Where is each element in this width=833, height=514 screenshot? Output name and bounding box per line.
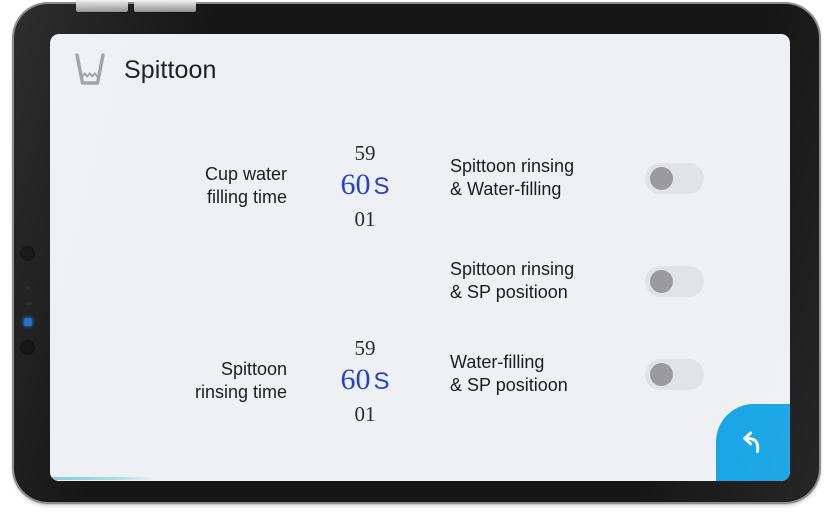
spinner-row-spittoon-rinsing-time: Spittoon rinsing time 59 60S 01 xyxy=(145,327,445,435)
toggle-label-line1: Spittoon rinsing xyxy=(450,155,625,178)
spinner-next-value[interactable]: 01 xyxy=(305,401,425,427)
toggle-knob xyxy=(650,363,673,386)
number-spinner[interactable]: 59 60S 01 xyxy=(305,140,425,232)
back-button[interactable] xyxy=(716,404,790,481)
tablet-device-frame: Spittoon Cup water filling time 59 60S 0… xyxy=(14,4,819,502)
spinner-selected-value[interactable]: 60S xyxy=(305,361,425,401)
spinner-label-line2: filling time xyxy=(145,186,287,209)
spinner-unit: S xyxy=(373,368,389,395)
page-title: Spittoon xyxy=(124,56,217,85)
spinner-label-line1: Cup water xyxy=(145,163,287,186)
edge-slot-icon xyxy=(25,302,32,305)
toggle-label-line2: & SP positioon xyxy=(450,374,625,397)
number-spinner[interactable]: 59 60S 01 xyxy=(305,335,425,427)
toggle-label-line1: Spittoon rinsing xyxy=(450,258,625,281)
settings-main-area: Cup water filling time 59 60S 01 Spittoo… xyxy=(50,106,790,481)
hardware-key-right[interactable] xyxy=(134,0,196,12)
spinner-label-line1: Spittoon xyxy=(145,358,287,381)
spinner-previous-value[interactable]: 59 xyxy=(305,140,425,166)
toggle-label: Spittoon rinsing & SP positioon xyxy=(450,258,625,304)
tablet-screen: Spittoon Cup water filling time 59 60S 0… xyxy=(50,34,790,481)
spinner-selected-number: 60 xyxy=(340,363,370,396)
page-header: Spittoon xyxy=(50,34,790,106)
microphone-hole-icon xyxy=(26,286,30,290)
toggle-row-spittoon-rinsing-water-filling: Spittoon rinsing & Water-filling xyxy=(450,148,760,208)
spinner-label: Spittoon rinsing time xyxy=(145,358,305,404)
toggle-label-line2: & SP positioon xyxy=(450,281,625,304)
speaker-hole-top-icon xyxy=(20,246,35,261)
toggle-switch-spittoon-rinsing-water-filling[interactable] xyxy=(645,163,704,194)
toggle-switch-water-filling-sp-position[interactable] xyxy=(645,359,704,390)
toggle-label: Spittoon rinsing & Water-filling xyxy=(450,155,625,201)
spinner-label-line2: rinsing time xyxy=(145,381,287,404)
spinner-next-value[interactable]: 01 xyxy=(305,206,425,232)
spinner-previous-value[interactable]: 59 xyxy=(305,335,425,361)
toggle-label-line1: Water-filling xyxy=(450,351,625,374)
toggle-label-line2: & Water-filling xyxy=(450,178,625,201)
back-arrow-icon xyxy=(736,426,770,460)
toggle-row-spittoon-rinsing-sp-position: Spittoon rinsing & SP positioon xyxy=(450,251,760,311)
toggle-row-water-filling-sp-position: Water-filling & SP positioon xyxy=(450,344,760,404)
screen-bottom-accent-line xyxy=(50,477,156,480)
status-led-icon xyxy=(24,318,32,326)
spinner-unit: S xyxy=(373,173,389,200)
spittoon-cup-icon xyxy=(70,50,110,90)
toggle-knob xyxy=(650,167,673,190)
spinner-label: Cup water filling time xyxy=(145,163,305,209)
spinner-selected-value[interactable]: 60S xyxy=(305,166,425,206)
toggle-switch-spittoon-rinsing-sp-position[interactable] xyxy=(645,266,704,297)
hardware-key-left[interactable] xyxy=(76,0,128,12)
toggle-knob xyxy=(650,270,673,293)
speaker-hole-bottom-icon xyxy=(20,340,35,355)
spinner-row-cup-water-filling-time: Cup water filling time 59 60S 01 xyxy=(145,132,445,240)
spinner-selected-number: 60 xyxy=(340,168,370,201)
toggle-label: Water-filling & SP positioon xyxy=(450,351,625,397)
